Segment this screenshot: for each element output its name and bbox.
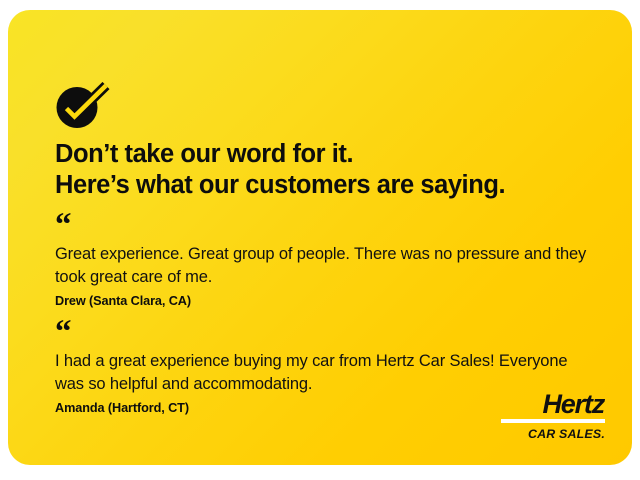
testimonial-text: Great experience. Great group of people.…	[55, 243, 600, 289]
testimonial-card: Don’t take our word for it. Here’s what …	[8, 10, 632, 465]
headline-line-2: Here’s what our customers are saying.	[55, 170, 615, 201]
quote-mark-icon: “	[55, 217, 615, 234]
headline-line-1: Don’t take our word for it.	[55, 139, 615, 170]
testimonial-author: Drew (Santa Clara, CA)	[55, 293, 615, 310]
quote-mark-icon: “	[55, 324, 615, 341]
check-circle-icon	[54, 82, 110, 134]
testimonial-item: “ Great experience. Great group of peopl…	[55, 217, 615, 310]
screenshot-canvas: Don’t take our word for it. Here’s what …	[0, 0, 640, 480]
hertz-car-sales-logo: Hertz CAR SALES.	[501, 391, 605, 441]
headline: Don’t take our word for it. Here’s what …	[55, 139, 615, 201]
hertz-wordmark: Hertz	[501, 391, 605, 418]
logo-underline-rule	[501, 419, 605, 423]
car-sales-subtitle: CAR SALES.	[501, 427, 605, 441]
testimonial-text: I had a great experience buying my car f…	[55, 350, 600, 396]
